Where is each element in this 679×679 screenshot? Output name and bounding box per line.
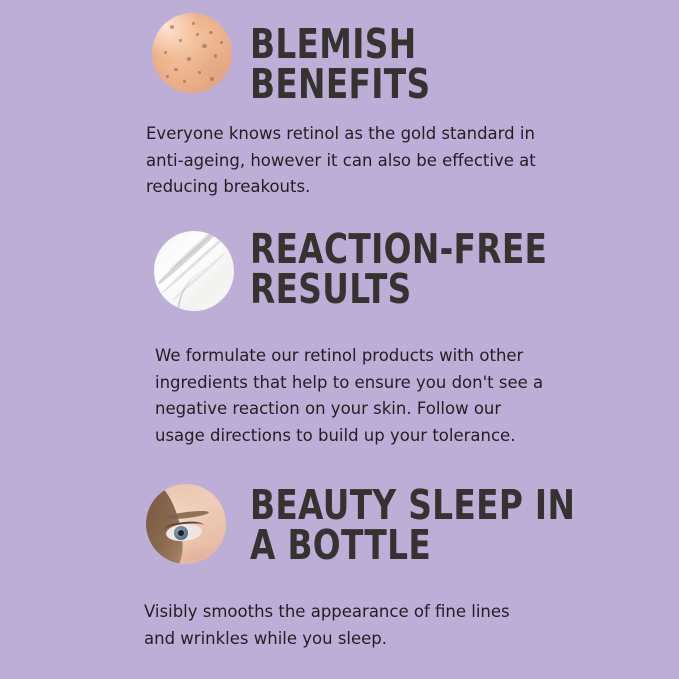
section-heading-beauty: BEAUTY SLEEP IN A BOTTLE xyxy=(250,485,594,565)
section-body-reaction: We formulate our retinol products with o… xyxy=(155,343,555,449)
cheek-highlight xyxy=(172,544,226,564)
section-body-blemish: Everyone knows retinol as the gold stand… xyxy=(146,121,546,201)
womans-eye-closeup-circle-image xyxy=(146,484,226,564)
section-heading-reaction: REACTION-FREE RESULTS xyxy=(250,229,586,309)
section-heading-blemish: BLEMISH BENEFITS xyxy=(250,24,586,104)
white-cream-texture-circle-image xyxy=(154,231,234,311)
section-body-beauty: Visibly smooths the appearance of fine l… xyxy=(144,599,544,652)
blemished-skin-circle-image xyxy=(152,13,232,93)
infographic-page: BLEMISH BENEFITS Everyone knows retinol … xyxy=(0,0,679,679)
